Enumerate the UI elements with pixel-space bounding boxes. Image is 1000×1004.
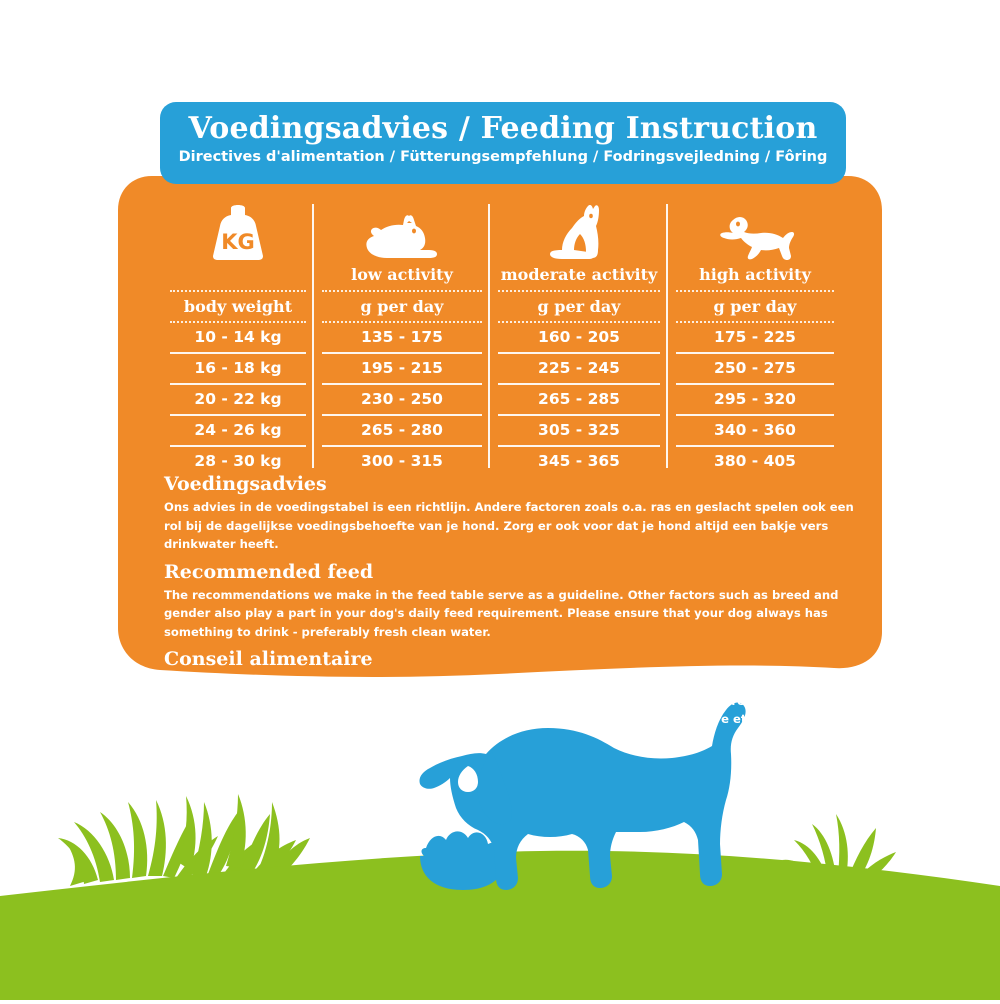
header-banner: Voedingsadvies / Feeding Instruction Dir… <box>160 102 846 184</box>
table-cell: 195 - 215 <box>314 354 490 383</box>
table-cell: 305 - 325 <box>490 416 668 445</box>
dog-lying-icon <box>314 204 490 262</box>
note-body-fr: Les recommandations dans le tableau d'al… <box>164 673 854 729</box>
note-title-en: Recommended feed <box>164 560 854 585</box>
table-cell: 24 - 26 kg <box>162 416 314 445</box>
table-cell: 225 - 245 <box>490 354 668 383</box>
table-cell: 295 - 320 <box>668 385 842 414</box>
table-cell: 160 - 205 <box>490 323 668 352</box>
table-column-moderate-activity: moderate activity g per day 160 - 205 22… <box>490 204 668 476</box>
kg-weight-icon: KG <box>162 204 314 262</box>
scene-svg <box>0 690 1000 1000</box>
dog-sitting-icon <box>490 204 668 262</box>
note-body-nl: Ons advies in de voedingstabel is een ri… <box>164 498 854 554</box>
table-cell: 250 - 275 <box>668 354 842 383</box>
page-title: Voedingsadvies / Feeding Instruction <box>160 111 846 147</box>
table-column-low-activity: low activity g per day 135 - 175 195 - 2… <box>314 204 490 476</box>
column-activity-label: moderate activity <box>490 262 668 290</box>
illustration-scene <box>0 690 1000 1000</box>
table-cell: 10 - 14 kg <box>162 323 314 352</box>
column-activity-label: low activity <box>314 262 490 290</box>
table-column-body-weight: KG body weight 10 - 14 kg 16 - 18 kg 20 … <box>162 204 314 476</box>
column-unit-label: body weight <box>162 292 314 321</box>
table-cell: 265 - 285 <box>490 385 668 414</box>
notes-section: Voedingsadvies Ons advies in de voedings… <box>164 472 854 735</box>
column-unit-label: g per day <box>314 292 490 321</box>
table-cell: 265 - 280 <box>314 416 490 445</box>
dog-running-icon <box>668 204 842 262</box>
column-unit-label: g per day <box>668 292 842 321</box>
table-cell: 16 - 18 kg <box>162 354 314 383</box>
note-title-fr: Conseil alimentaire <box>164 647 854 672</box>
column-unit-label: g per day <box>490 292 668 321</box>
table-cell: 340 - 360 <box>668 416 842 445</box>
table-cell: 20 - 22 kg <box>162 385 314 414</box>
feeding-panel: KG body weight 10 - 14 kg 16 - 18 kg 20 … <box>118 176 882 696</box>
note-body-en: The recommendations we make in the feed … <box>164 586 854 642</box>
note-title-nl: Voedingsadvies <box>164 472 854 497</box>
table-column-high-activity: high activity g per day 175 - 225 250 - … <box>668 204 842 476</box>
svg-text:KG: KG <box>221 230 255 254</box>
column-activity-label: high activity <box>668 262 842 290</box>
page-subtitle: Directives d'alimentation / Fütterungsem… <box>160 147 846 167</box>
table-cell: 230 - 250 <box>314 385 490 414</box>
table-cell: 135 - 175 <box>314 323 490 352</box>
feeding-table: KG body weight 10 - 14 kg 16 - 18 kg 20 … <box>162 204 842 476</box>
table-cell: 175 - 225 <box>668 323 842 352</box>
